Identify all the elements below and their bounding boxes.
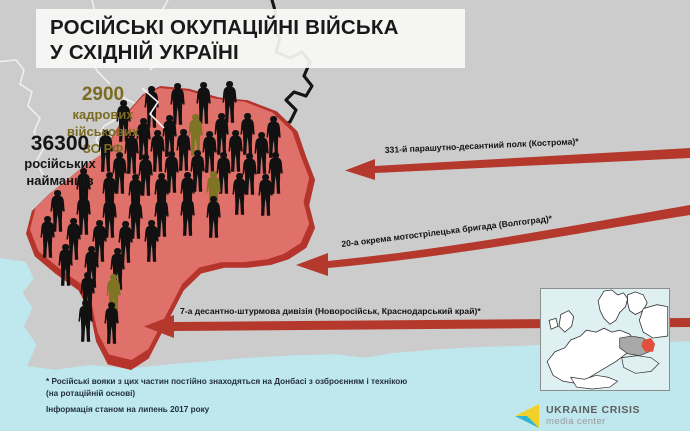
stat-cadre-number: 2900 (55, 84, 151, 106)
page-title-line2: У СХІДНІЙ УКРАЇНІ (50, 40, 465, 65)
infographic-root: РОСІЙСЬКІ ОКУПАЦІЙНІ ВІЙСЬКА У СХІДНІЙ У… (0, 0, 690, 431)
stat-mercenaries: 36300 російських найманців (2, 133, 118, 189)
logo-text-block: UKRAINE CRISIS media center (546, 405, 640, 427)
arrow-331-group: 331-й парашутно-десантний полк (Кострома… (335, 140, 690, 190)
soldier-silhouette (180, 194, 195, 236)
stat-mercenaries-number: 36300 (2, 133, 118, 155)
stat-cadre-leader-line (140, 86, 200, 146)
soldier-silhouette (258, 174, 273, 216)
soldier-silhouette (206, 196, 221, 238)
play-triangle-icon (509, 404, 539, 428)
europe-inset-graphic (541, 289, 669, 390)
stat-mercenaries-label-2: найманців (2, 172, 118, 189)
logo-line-2: media center (546, 416, 640, 427)
soldier-silhouette (144, 220, 159, 262)
title-banner: РОСІЙСЬКІ ОКУПАЦІЙНІ ВІЙСЬКА У СХІДНІЙ У… (36, 9, 465, 68)
logo-line-1: UKRAINE CRISIS (546, 405, 640, 416)
soldier-silhouette (78, 300, 93, 342)
footnote-date: Інформація станом на липень 2017 року (46, 404, 366, 416)
arrow-7-label: 7-а десантно-штурмова дивізія (Новоросій… (180, 306, 481, 316)
ukraine-crisis-media-center-logo: UKRAINE CRISIS media center (509, 404, 640, 428)
soldier-silhouette (104, 302, 119, 344)
soldier-silhouette (58, 244, 73, 286)
stat-mercenaries-label-1: російських (2, 155, 118, 172)
page-title-line1: РОСІЙСЬКІ ОКУПАЦІЙНІ ВІЙСЬКА (50, 15, 465, 40)
footnote-asterisk: * Російські вояки з цих частин постійно … (46, 376, 446, 400)
arrow-20-group: 20-а окрема мотострілецька бригада (Волг… (286, 205, 690, 277)
soldier-silhouette (232, 173, 247, 215)
europe-inset-map (540, 288, 670, 391)
stat-cadre-label-1: кадрових (55, 106, 151, 123)
soldier-silhouette (40, 216, 55, 258)
